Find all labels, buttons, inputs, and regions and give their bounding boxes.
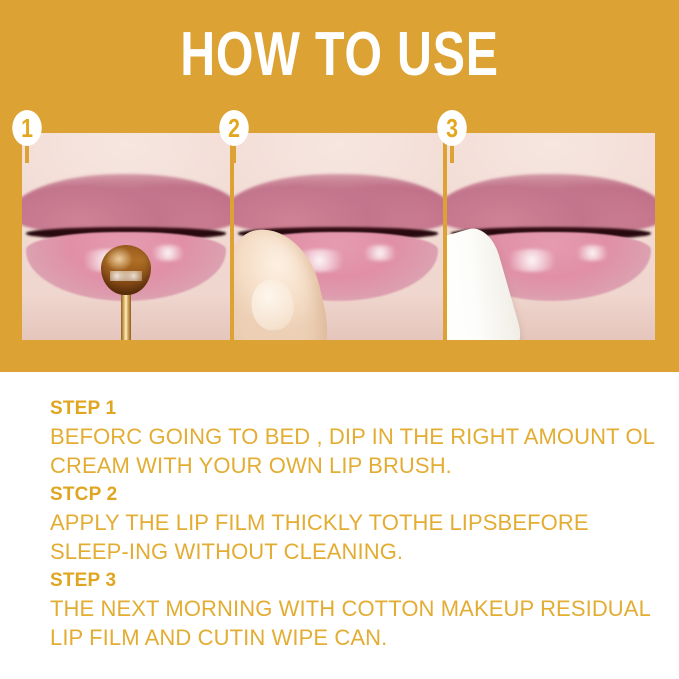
instruction-step-3: STEP 3 THE NEXT MORNING WITH COTTON MAKE…	[50, 568, 662, 652]
step-1-body: BEFORC GOING TO BED , DIP IN THE RIGHT A…	[50, 422, 662, 480]
instructions-list: STEP 1 BEFORC GOING TO BED , DIP IN THE …	[50, 396, 662, 654]
photo-strip	[22, 133, 655, 340]
step-badge-1: 1	[12, 110, 42, 146]
step-3-body: THE NEXT MORNING WITH COTTON MAKEUP RESI…	[50, 594, 662, 652]
photo-panel-step-1	[22, 133, 230, 340]
step-1-heading: STEP 1	[50, 396, 662, 422]
lip-gloss-highlight-icon	[501, 249, 563, 272]
step-2-body: APPLY THE LIP FILM THICKLY TOTHE LIPSBEF…	[50, 508, 662, 566]
applicator-head-icon	[101, 245, 151, 295]
instruction-step-1: STEP 1 BEFORC GOING TO BED , DIP IN THE …	[50, 396, 662, 480]
page-title: HOW TO USE	[75, 24, 605, 86]
photo-panel-step-3	[447, 133, 655, 340]
step-2-heading: STCP 2	[50, 482, 662, 508]
lip-gloss-highlight-secondary-icon	[147, 245, 189, 262]
fingernail-icon	[248, 277, 296, 332]
photo-panel-step-2	[234, 133, 442, 340]
step-3-heading: STEP 3	[50, 568, 662, 594]
step-badge-3: 3	[437, 110, 467, 146]
instruction-step-2: STCP 2 APPLY THE LIP FILM THICKLY TOTHE …	[50, 482, 662, 566]
step-badge-2: 2	[219, 110, 249, 146]
